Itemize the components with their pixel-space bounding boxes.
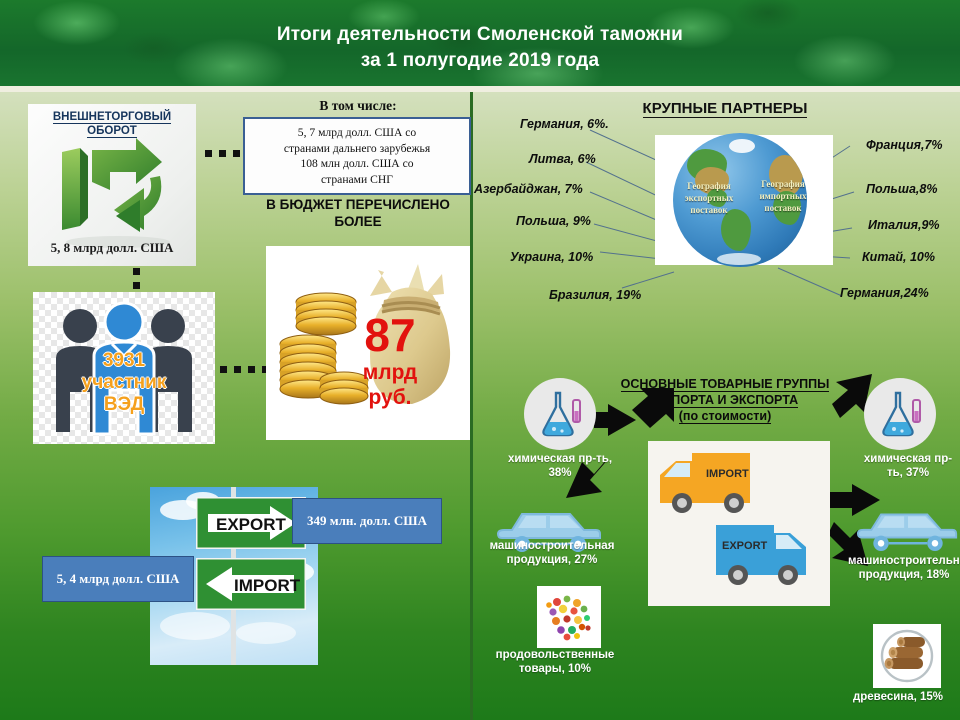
partner-label-import-2: Италия,9%	[868, 218, 940, 232]
ice-cap	[717, 253, 761, 265]
import-value-text: 5, 4 млрд долл. США	[57, 571, 180, 587]
recycle-arrows-icon	[40, 130, 186, 250]
budget-amount-unit-2: руб.	[330, 387, 450, 408]
partner-label-export-0: Германия, 6%.	[520, 117, 609, 131]
breakdown-line-3: 108 млн долл. США со	[284, 156, 430, 172]
title-line-1: Итоги деятельности Смоленской таможни	[0, 22, 960, 48]
dotted-connector-horizontal-bottom	[206, 366, 266, 373]
flask-icon	[540, 390, 584, 438]
export-group-label-1: машиностроительная продукция, 18%	[848, 554, 960, 582]
budget-amount-number: 87	[330, 312, 450, 358]
budget-amount: 87 млрд руб.	[330, 312, 450, 408]
breakdown-line-1: 5, 7 млрд долл. США со	[284, 125, 430, 141]
import-group-label-1: машиностроительная продукция, 27%	[473, 539, 631, 567]
ice-cap	[729, 139, 755, 153]
title-line-2: за 1 полугодие 2019 года	[0, 48, 960, 74]
car-icon	[856, 498, 960, 552]
partner-label-import-0: Франция,7%	[866, 138, 943, 152]
breakdown-line-2: странами дальнего зарубежья	[284, 141, 430, 157]
partner-label-export-4: Украина, 10%	[510, 250, 593, 264]
breakdown-line-4: странами СНГ	[284, 172, 430, 188]
export-group-label-2: древесина, 15%	[838, 690, 958, 704]
globe-import-label: География импортных поставок	[750, 178, 816, 214]
export-sign: EXPORT	[196, 497, 306, 549]
import-group-label-2: продовольственные товары, 10%	[473, 648, 637, 676]
svg-text:EXPORT: EXPORT	[722, 540, 768, 552]
export-value-label: 349 млн. долл. США	[292, 498, 442, 544]
participants-count: 3931	[40, 350, 208, 372]
partner-label-export-5: Бразилия, 19%	[549, 288, 641, 302]
flask-icon	[880, 390, 924, 438]
cloud-shape	[236, 622, 296, 644]
food-icon	[541, 590, 597, 644]
import-sign: IMPORT	[196, 558, 306, 610]
breakdown-heading: В том числе:	[250, 98, 466, 114]
partner-label-export-1: Литва, 6%	[529, 152, 596, 166]
dotted-connector-horizontal-top	[205, 150, 247, 157]
participants-text: 3931 участник ВЭД	[40, 350, 208, 416]
budget-amount-unit-1: млрд	[330, 362, 450, 383]
export-value-text: 349 млн. долл. США	[307, 513, 427, 529]
import-group-label-0: химическая пр-ть, 38%	[496, 452, 624, 480]
partner-label-import-1: Польша,8%	[866, 182, 937, 196]
export-group-label-0: химическая пр-ть, 37%	[856, 452, 960, 480]
partner-label-export-3: Польша, 9%	[516, 214, 591, 228]
partner-label-import-4: Германия,24%	[840, 286, 929, 300]
breakdown-text: 5, 7 млрд долл. США со странами дальнего…	[279, 125, 435, 187]
participants-line-3: ВЭД	[40, 394, 208, 416]
breakdown-box: 5, 7 млрд долл. США со странами дальнего…	[243, 117, 471, 195]
svg-text:IMPORT: IMPORT	[706, 468, 749, 480]
page-title: Итоги деятельности Смоленской таможни за…	[0, 22, 960, 74]
cloud-shape	[160, 612, 230, 640]
infographic-root: Итоги деятельности Смоленской таможни за…	[0, 0, 960, 720]
trucks-icon: IMPORT EXPORT	[654, 447, 826, 601]
svg-text:IMPORT: IMPORT	[234, 576, 301, 595]
svg-text:EXPORT: EXPORT	[216, 515, 287, 534]
import-value-label: 5, 4 млрд долл. США	[42, 556, 194, 602]
budget-title: В БЮДЖЕТ ПЕРЕЧИСЛЕНО БОЛЕЕ	[248, 196, 468, 230]
logs-icon	[877, 628, 937, 684]
foreign-trade-value: 5, 8 млрд долл. США	[24, 240, 200, 255]
globe-export-label: География экспортных поставок	[676, 180, 742, 216]
partner-label-import-3: Китай, 10%	[862, 250, 935, 264]
partner-label-export-2: Азербайджан, 7%	[474, 182, 583, 196]
participants-line-2: участник	[40, 372, 208, 394]
